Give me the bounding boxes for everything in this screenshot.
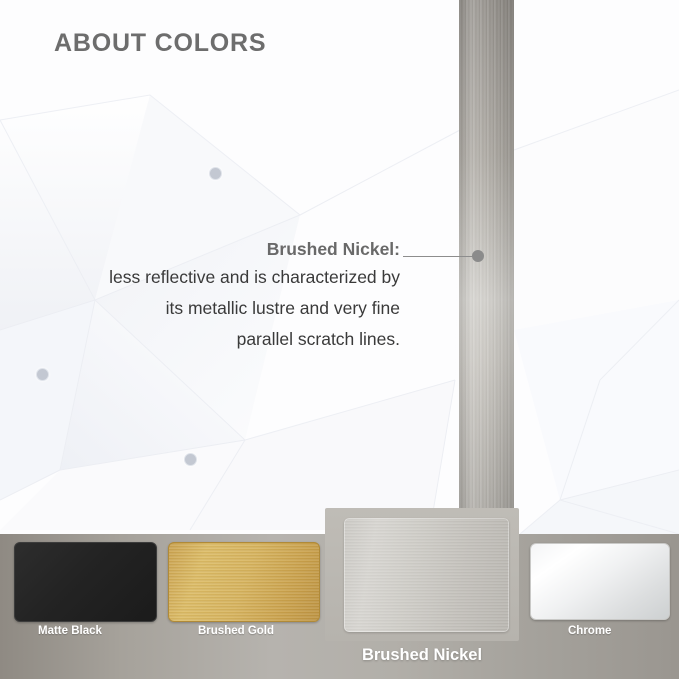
swatch-brushed-nickel[interactable] [344, 518, 509, 632]
callout-line-2: its metallic lustre and very fine [40, 293, 400, 324]
callout-line-1: less reflective and is characterized by [40, 262, 400, 293]
swatch-label-brushed-gold: Brushed Gold [198, 625, 274, 637]
callout-line-3: parallel scratch lines. [40, 324, 400, 355]
swatch-label-brushed-nickel: Brushed Nickel [325, 646, 519, 665]
swatch-label-matte-black: Matte Black [38, 625, 102, 637]
swatch-matte-black[interactable] [14, 542, 157, 622]
swatch-label-chrome: Chrome [568, 625, 611, 637]
callout-title: Brushed Nickel: [40, 236, 400, 262]
page-title: ABOUT COLORS [54, 29, 266, 58]
callout-leader-dot [472, 250, 484, 262]
brushed-nickel-vertical-sample [459, 0, 514, 516]
color-finishes-infographic: ABOUT COLORS Brushed Nickel: less reflec… [0, 0, 679, 679]
swatch-chrome[interactable] [530, 543, 670, 620]
swatch-brushed-gold[interactable] [168, 542, 320, 622]
decorative-dot [184, 453, 197, 466]
swatch-brushed-nickel-frame [325, 508, 519, 641]
callout-text-block: Brushed Nickel: less reflective and is c… [40, 236, 400, 355]
nickel-strip-sheen [459, 0, 514, 516]
decorative-dot [209, 167, 222, 180]
callout-leader-line [403, 256, 479, 257]
decorative-dot [36, 368, 49, 381]
